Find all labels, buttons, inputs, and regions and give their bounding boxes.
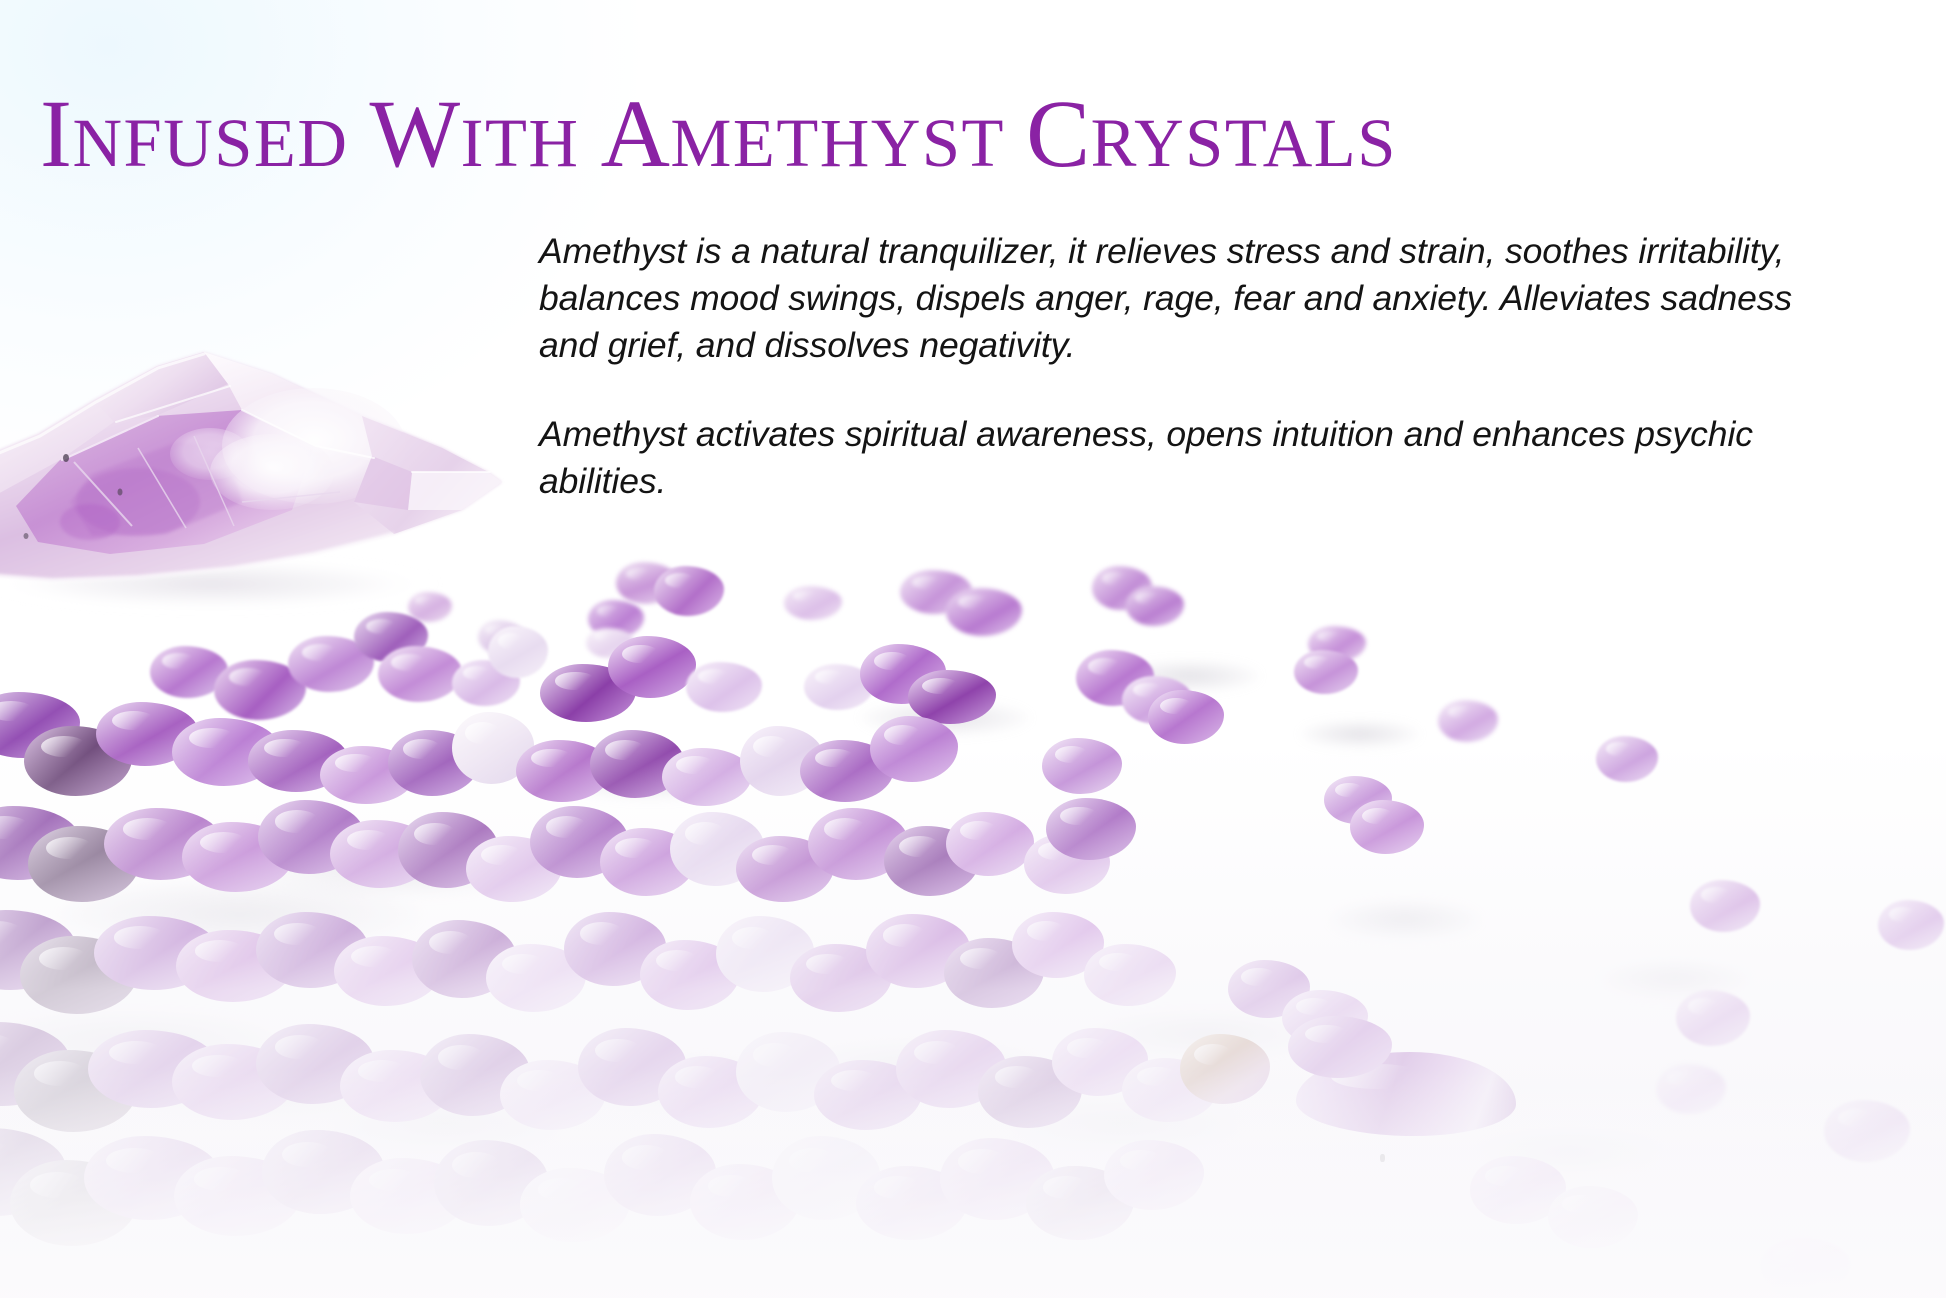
- chip: [288, 636, 374, 692]
- body-copy: Amethyst is a natural tranquilizer, it r…: [539, 228, 1849, 505]
- chip: [1824, 1100, 1910, 1162]
- chip: [398, 812, 498, 888]
- chip: [10, 1160, 138, 1246]
- title-word-infused: INFUSED: [40, 80, 348, 187]
- chip: [590, 730, 684, 798]
- slide-canvas: INFUSEDWITHAMETHYSTCRYSTALS Amethyst is …: [0, 0, 1946, 1298]
- chip: [564, 912, 666, 986]
- chip: [500, 1060, 606, 1130]
- chip: [96, 702, 198, 766]
- chip: [0, 1128, 66, 1216]
- chip: [1148, 690, 1224, 744]
- chip: [104, 808, 222, 880]
- chip: [784, 586, 842, 620]
- chip: [0, 1022, 70, 1106]
- chip: [654, 566, 724, 616]
- chip: [172, 1044, 296, 1120]
- chip: [388, 730, 480, 796]
- chip: [1084, 944, 1176, 1006]
- chip: [84, 1136, 220, 1220]
- chip: [1012, 912, 1104, 978]
- chip: [334, 936, 442, 1006]
- chip-elongated: [1296, 1052, 1516, 1136]
- chip: [330, 820, 434, 888]
- chip: [608, 636, 696, 698]
- chip: [1104, 1140, 1204, 1210]
- chip: [856, 1166, 968, 1240]
- chip: [1180, 1034, 1270, 1104]
- paragraph-benefits: Amethyst is a natural tranquilizer, it r…: [539, 228, 1849, 370]
- chip: [804, 664, 874, 710]
- chip: [1126, 586, 1184, 626]
- chip: [1548, 1186, 1638, 1248]
- chip: [616, 562, 678, 604]
- chip: [0, 692, 80, 758]
- background-floor-gradient: [0, 738, 1946, 1298]
- chip: [740, 726, 824, 796]
- chip: [256, 912, 368, 988]
- chip: [1026, 1166, 1134, 1240]
- chip: [516, 740, 612, 802]
- chip: [1122, 1058, 1218, 1122]
- chip: [176, 930, 294, 1002]
- chip: [1026, 1166, 1134, 1240]
- chip: [478, 620, 524, 654]
- chip: [262, 1130, 384, 1214]
- chip: [150, 646, 228, 698]
- chip: [716, 916, 814, 992]
- chip: [808, 808, 908, 880]
- background-floor-gradient-lower: [0, 1068, 1946, 1298]
- page-title: INFUSEDWITHAMETHYSTCRYSTALS: [40, 86, 1840, 182]
- paragraph-spiritual: Amethyst activates spiritual awareness, …: [539, 411, 1849, 505]
- chip: [452, 660, 520, 706]
- chip: [944, 938, 1044, 1008]
- chip: [662, 748, 752, 806]
- chip: [686, 662, 762, 712]
- chip: [640, 940, 740, 1010]
- chip: [434, 1140, 548, 1226]
- chip: [1122, 676, 1192, 724]
- chip: [466, 836, 562, 902]
- chip: [412, 920, 516, 998]
- chip: [588, 600, 644, 638]
- chip: [790, 944, 892, 1012]
- chip: [908, 670, 996, 724]
- chip: [1676, 990, 1750, 1046]
- chip: [486, 944, 586, 1012]
- chip: [946, 812, 1034, 876]
- chip: [1324, 776, 1392, 824]
- title-word-with: WITH: [370, 80, 580, 187]
- chip: [28, 826, 140, 902]
- chip: [866, 914, 970, 988]
- chip: [670, 812, 764, 886]
- chip: [1092, 566, 1152, 610]
- chip: [884, 826, 980, 896]
- chip: [94, 916, 218, 990]
- chip: [488, 626, 548, 678]
- chip: [0, 806, 80, 880]
- chip: [1438, 700, 1498, 742]
- chip: [800, 740, 894, 802]
- chip: [578, 1028, 686, 1106]
- chip: [0, 910, 76, 990]
- chip: [736, 836, 834, 902]
- chip: [520, 1168, 630, 1242]
- chip: [420, 1034, 530, 1116]
- chip: [604, 1134, 716, 1216]
- chip: [14, 1050, 138, 1132]
- chip: [1288, 1016, 1392, 1078]
- title-word-crystals: CRYSTALS: [1026, 80, 1397, 187]
- chip: [182, 822, 294, 892]
- chip: [870, 716, 958, 782]
- chip: [1760, 1238, 1850, 1298]
- chip: [1228, 960, 1310, 1018]
- chip: [814, 1060, 922, 1130]
- chip: [900, 570, 972, 614]
- chip: [690, 1164, 800, 1240]
- amethyst-chips-scatter: [0, 0, 1946, 1298]
- chip: [1076, 650, 1154, 706]
- chip: [860, 644, 946, 704]
- chip: [340, 1050, 454, 1122]
- chip: [1282, 990, 1368, 1046]
- chip: [258, 800, 364, 874]
- chip: [24, 726, 132, 796]
- chip: [408, 592, 452, 622]
- chip: [946, 588, 1022, 636]
- chip: [262, 1130, 384, 1214]
- chip: [1146, 692, 1220, 742]
- chip: [1878, 900, 1944, 950]
- chip: [1104, 1140, 1204, 1210]
- chip: [940, 1138, 1054, 1220]
- chip: [20, 936, 138, 1014]
- chip: [540, 664, 636, 722]
- chip: [350, 1158, 468, 1234]
- chip: [172, 718, 280, 786]
- chip: [600, 828, 696, 896]
- chip: [530, 806, 628, 878]
- chip: [772, 1136, 880, 1220]
- amethyst-crystal-point-image: [0, 296, 542, 608]
- chip: [1308, 626, 1366, 662]
- chip: [320, 746, 416, 804]
- chip: [1596, 736, 1658, 782]
- chip: [214, 660, 306, 720]
- chip: [1052, 1028, 1148, 1096]
- chip: [736, 1032, 840, 1112]
- chip: [658, 1056, 764, 1128]
- chip: [586, 628, 634, 658]
- chip: [1024, 834, 1110, 894]
- chip: [354, 612, 428, 662]
- chip: [1294, 650, 1358, 694]
- chip: [452, 712, 534, 784]
- chip: [378, 646, 462, 702]
- chip: [88, 1030, 218, 1108]
- chip: [1470, 1156, 1566, 1224]
- chip: [1042, 738, 1122, 794]
- chip: [1288, 1016, 1392, 1078]
- chip: [248, 730, 348, 792]
- chip: [896, 1030, 1006, 1108]
- chip: [256, 1024, 374, 1104]
- title-word-amethyst: AMETHYST: [601, 80, 1005, 187]
- chip: [1690, 880, 1760, 932]
- chip: [1046, 798, 1136, 860]
- chip: [1350, 800, 1424, 854]
- chip: [520, 1168, 630, 1242]
- chip: [1656, 1064, 1726, 1114]
- chip: [978, 1056, 1082, 1128]
- chip: [174, 1156, 302, 1236]
